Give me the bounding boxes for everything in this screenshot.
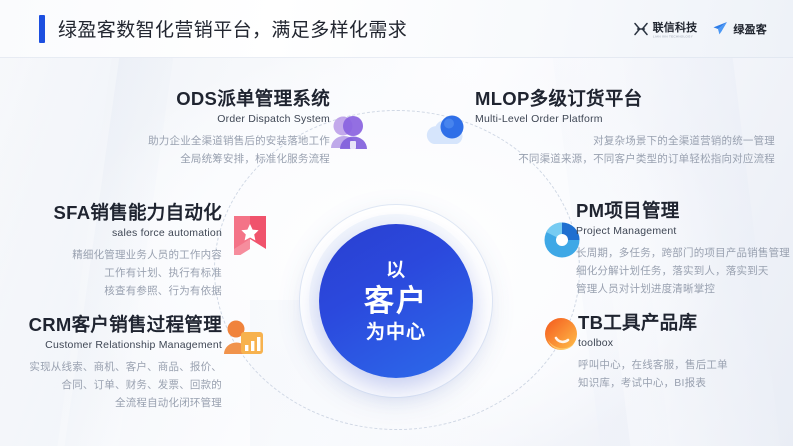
feature-desc-line: 呼叫中心，在线客服，售后工单 [578,356,778,374]
brand-subtitle: LIAN XIN TECHNOLOGY [653,35,693,39]
feature-desc-line: 工作有计划、执行有标准 [14,264,222,282]
feature-title: TB工具产品库 [578,312,778,334]
brand-lvyingke: 绿盈客 [712,21,767,37]
center-core-circle: 以 客户 为中心 [319,224,473,378]
center-line-1: 以 [386,261,406,280]
feature-mlop: MLOP多级订货平台 Multi-Level Order Platform 对复… [475,88,775,168]
feature-desc-line: 核查有参照、行为有依据 [14,282,222,300]
feature-desc-line: 管理人员对计划进度清晰掌控 [576,280,786,298]
feature-subtitle: Project Management [576,225,786,237]
brand-logos: 联信科技 LIAN XIN TECHNOLOGY 绿盈客 [634,19,767,39]
feature-crm: CRM客户销售过程管理 Customer Relationship Manage… [6,314,222,412]
title-accent-bar [39,15,45,43]
cloud-dot-icon [425,110,471,154]
feature-title: CRM客户销售过程管理 [6,314,222,336]
feature-description: 对复杂场景下的全渠道营销的统一管理 不同渠道来源，不同客户类型的订单轻松指向对应… [475,132,775,168]
center-line-3: 为中心 [366,323,426,342]
feature-subtitle: Customer Relationship Management [6,339,222,351]
brand-name: 联信科技 [653,19,698,35]
feature-title: PM项目管理 [576,200,786,222]
brand-lianxin: 联信科技 LIAN XIN TECHNOLOGY [634,19,698,39]
user-avatar-icon [325,108,373,156]
feature-description: 实现从线索、商机、客户、商品、报价、 合同、订单、财务、发票、回款的 全流程自动… [6,358,222,412]
feature-subtitle: Multi-Level Order Platform [475,113,775,125]
feature-sfa: SFA销售能力自动化 sales force automation 精细化管理业… [14,202,222,300]
feature-description: 精细化管理业务人员的工作内容 工作有计划、执行有标准 核查有参照、行为有依据 [14,246,222,300]
feature-desc-line: 合同、订单、财务、发票、回款的 [6,376,222,394]
feature-title: MLOP多级订货平台 [475,88,775,110]
center-line-2: 客户 [364,287,428,317]
feature-title: SFA销售能力自动化 [14,202,222,224]
feature-desc-line: 助力企业全渠道销售后的安装落地工作 [74,132,330,150]
paper-plane-icon [712,21,728,36]
feature-pm: PM项目管理 Project Management 长周期，多任务，跨部门的项目… [576,200,786,298]
page-title: 绿盈客数智化营销平台，满足多样化需求 [58,15,407,42]
feature-ods: ODS派单管理系统 Order Dispatch System 助力企业全渠道销… [74,88,330,168]
brand-name: 绿盈客 [733,21,767,37]
feature-desc-line: 精细化管理业务人员的工作内容 [14,246,222,264]
slide-header: 绿盈客数智化营销平台，满足多样化需求 联信科技 LIAN XIN TECHNOL… [0,0,793,58]
slide-canvas: 绿盈客数智化营销平台，满足多样化需求 联信科技 LIAN XIN TECHNOL… [0,0,793,446]
feature-desc-line: 长周期，多任务，跨部门的项目产品销售管理 [576,244,786,262]
feature-desc-line: 不同渠道来源，不同客户类型的订单轻松指向对应流程 [475,150,775,168]
feature-desc-line: 知识库，考试中心，BI报表 [578,374,778,392]
feature-description: 长周期，多任务，跨部门的项目产品销售管理 细化分解计划任务，落实到人，落实到天 … [576,244,786,298]
feature-tb: TB工具产品库 toolbox 呼叫中心，在线客服，售后工单 知识库，考试中心，… [578,312,778,392]
feature-subtitle: toolbox [578,337,778,349]
feature-desc-line: 对复杂场景下的全渠道营销的统一管理 [475,132,775,150]
bookmark-star-icon [230,213,270,255]
feature-title: ODS派单管理系统 [74,88,330,110]
feature-subtitle: Order Dispatch System [74,113,330,125]
feature-desc-line: 实现从线索、商机、客户、商品、报价、 [6,358,222,376]
x-logo-icon [634,22,648,36]
feature-description: 呼叫中心，在线客服，售后工单 知识库，考试中心，BI报表 [578,356,778,392]
feature-desc-line: 全流程自动化闭环管理 [6,394,222,412]
feature-subtitle: sales force automation [14,227,222,239]
user-chart-icon [222,318,266,360]
feature-desc-line: 全局统筹安排，标准化服务流程 [74,150,330,168]
feature-desc-line: 细化分解计划任务，落实到人，落实到天 [576,262,786,280]
feature-description: 助力企业全渠道销售后的安装落地工作 全局统筹安排，标准化服务流程 [74,132,330,168]
